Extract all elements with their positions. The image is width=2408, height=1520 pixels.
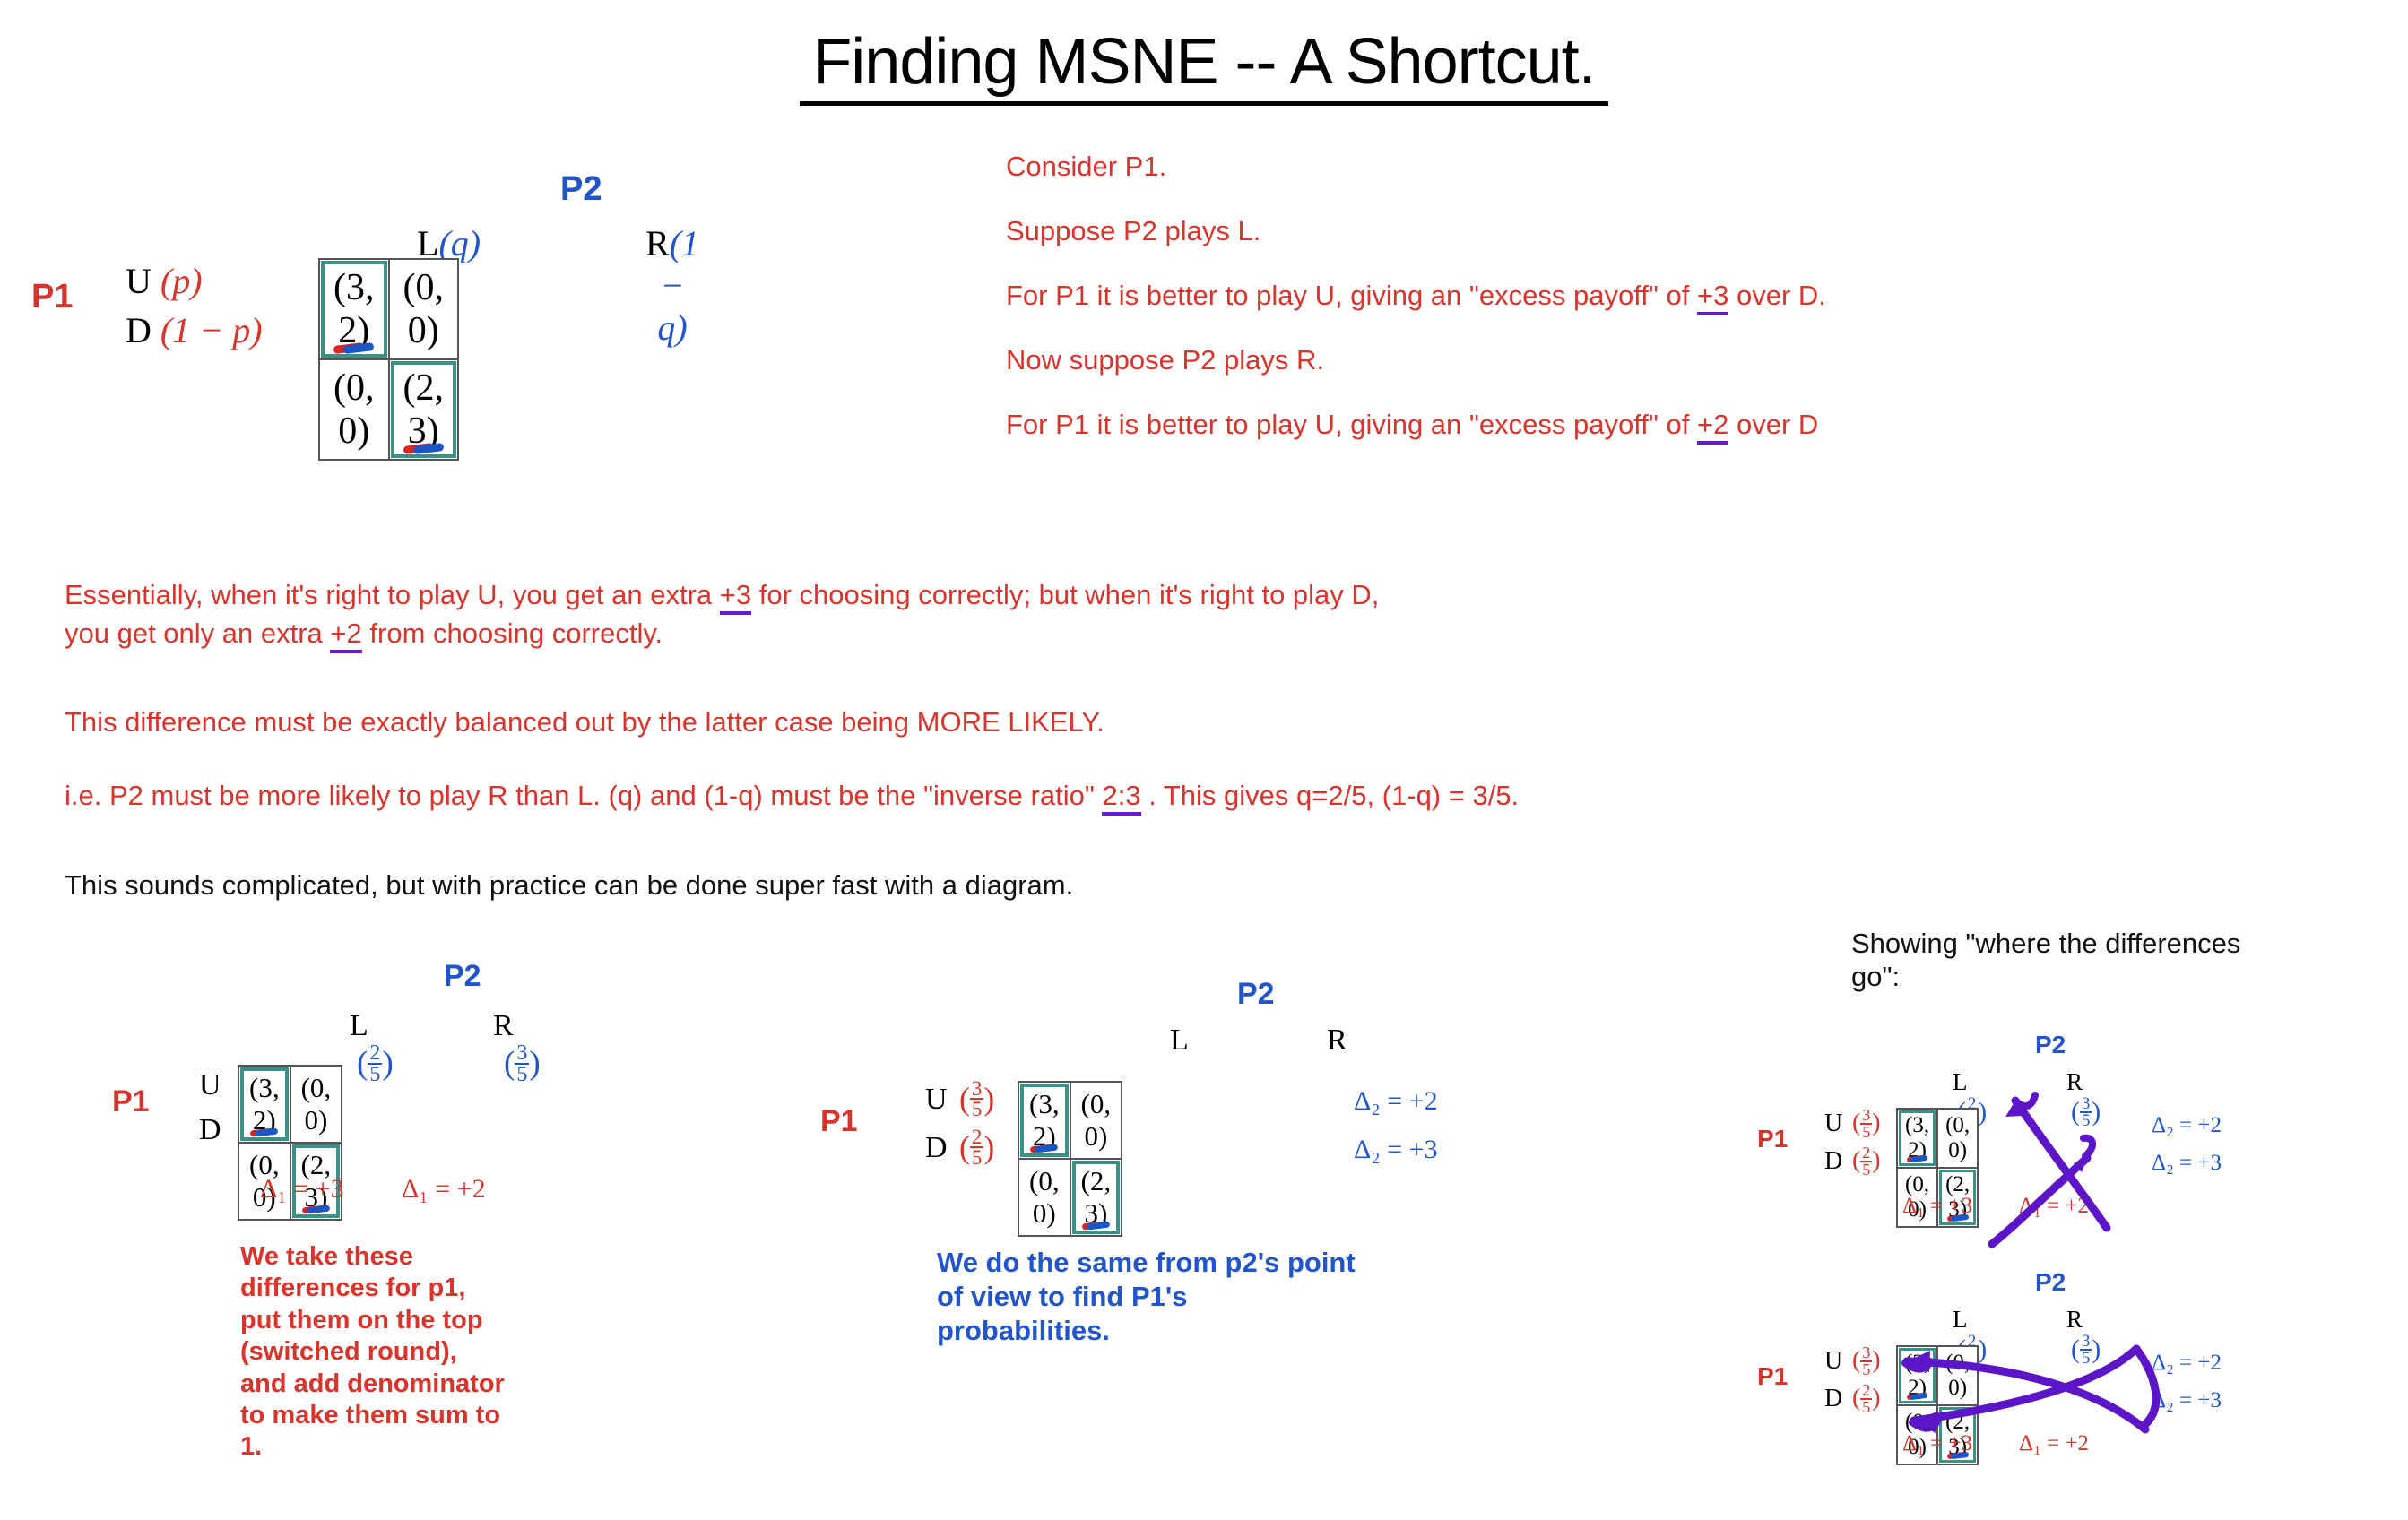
- explanation-line-3: For P1 it is better to play U, giving an…: [1006, 281, 1826, 309]
- paren-close: ): [983, 1086, 994, 1112]
- explanation-line-4: Now suppose P2 plays R.: [1006, 346, 1826, 374]
- row-label-d-bl: D: [199, 1113, 221, 1147]
- paren-open: (: [504, 1050, 515, 1077]
- body-p1-d: from choosing correctly.: [362, 617, 663, 649]
- fraction: 3 5: [515, 1043, 529, 1084]
- body-paragraph-2: This difference must be exactly balanced…: [65, 708, 1104, 736]
- cell-u-l-box: (3, 2): [1020, 1084, 1069, 1157]
- fraction: 2 5: [1860, 1145, 1872, 1177]
- explanation-block: Consider P1. Suppose P2 plays L. For P1 …: [1006, 152, 1826, 438]
- delta2-u-bm: Δ₂ = +2: [1354, 1086, 1438, 1117]
- cell-d-l-value: (0, 0): [1029, 1165, 1060, 1229]
- cell-d-r: (2, 3): [1070, 1159, 1122, 1236]
- body-p1-c: you get only an extra: [65, 617, 330, 649]
- row-label-d-prob: (1 − p): [160, 310, 263, 350]
- delta2-d-bm: Δ₂ = +3: [1354, 1135, 1438, 1165]
- fraction-numerator: 2: [368, 1043, 382, 1065]
- fraction-denominator: 5: [1862, 1400, 1870, 1415]
- table-row: (3, 2) (0, 0): [1018, 1082, 1122, 1159]
- bm-matrix-table: (3, 2) (0, 0) (0, 0) (2, 3): [1018, 1081, 1122, 1237]
- fraction-denominator: 5: [1862, 1162, 1870, 1178]
- fraction-numerator: 3: [1860, 1108, 1872, 1125]
- paren-close: ): [529, 1050, 540, 1077]
- paren-open: (: [959, 1086, 970, 1112]
- cell-u-r-value: (0, 0): [403, 267, 445, 351]
- col-header-l-bl: L ( 2 5 ): [350, 1008, 394, 1084]
- fraction: 2 5: [1860, 1383, 1872, 1414]
- p2-label-bl: P2: [444, 959, 481, 994]
- paren-close: ): [382, 1050, 393, 1077]
- p2-label-brb: P2: [2035, 1268, 2066, 1297]
- paren-close: ): [1872, 1113, 1880, 1133]
- col-header-l-bl-prob: ( 2 5 ): [357, 1043, 394, 1084]
- explanation-line-5a: For P1 it is better to play U, giving an…: [1006, 409, 1697, 440]
- paren-open: (: [1852, 1388, 1860, 1408]
- row-label-u-text: U: [126, 261, 152, 301]
- delta1-left-bl: Δ₁ = +3: [260, 1174, 344, 1205]
- cell-u-r: (0, 0): [389, 259, 459, 359]
- col-header-l-bm: L: [1170, 1023, 1189, 1058]
- explanation-line-1: Consider P1.: [1006, 152, 1826, 180]
- bl-caption: We take these differences for p1, put th…: [240, 1241, 509, 1464]
- cell-u-r-box: (0, 0): [292, 1071, 341, 1137]
- fraction-denominator: 5: [369, 1065, 380, 1084]
- p1-label-bm: P1: [820, 1104, 858, 1139]
- body-p1-plus2: +2: [330, 617, 361, 653]
- page-title-text: Finding MSNE -- A Shortcut.: [800, 26, 1607, 106]
- col-header-r-bl-text: R: [493, 1009, 514, 1042]
- row-label-d-brb: D: [1824, 1385, 1842, 1413]
- row-label-u-bl: U: [199, 1068, 221, 1102]
- body-p1-a: Essentially, when it's right to play U, …: [65, 579, 720, 610]
- fraction-denominator: 5: [972, 1148, 983, 1167]
- cell-u-l: (3, 2): [319, 259, 389, 359]
- explanation-line-3a: For P1 it is better to play U, giving an…: [1006, 280, 1697, 311]
- body-p1-plus3: +3: [720, 579, 751, 615]
- fraction-numerator: 2: [1860, 1145, 1872, 1162]
- arrow-flourish-right: [2083, 1138, 2092, 1156]
- cell-d-l-box: (0, 0): [1020, 1164, 1069, 1231]
- cell-u-l: (3, 2): [238, 1066, 290, 1143]
- arrow-flourish-left: [2017, 1095, 2035, 1106]
- fraction-denominator: 5: [972, 1100, 983, 1118]
- row-label-d-text: D: [126, 310, 152, 350]
- cell-d-r-box: (2, 3): [1072, 1161, 1121, 1234]
- cell-u-r: (0, 0): [290, 1066, 342, 1143]
- body-p3-line: i.e. P2 must be more likely to play R th…: [65, 782, 1519, 809]
- row-label-u: U (p): [126, 260, 212, 302]
- explanation-line-5: For P1 it is better to play U, giving an…: [1006, 410, 1826, 438]
- p1-label-bl: P1: [112, 1084, 150, 1119]
- paren-close: ): [983, 1135, 994, 1161]
- col-header-r-bm: R: [1327, 1023, 1347, 1058]
- table-row: (3, 2) (0, 0): [319, 259, 458, 359]
- cell-d-r-value: (2, 3): [403, 367, 445, 452]
- fraction: 2 5: [970, 1127, 984, 1167]
- col-header-r-bl: R ( 3 5 ): [493, 1008, 541, 1084]
- excess-payoff-plus2: +2: [1697, 409, 1728, 445]
- arrow-to-lower-left-path: [1914, 1349, 2136, 1421]
- row-label-u-brb: U: [1824, 1347, 1842, 1376]
- row-label-u-bra: U: [1824, 1110, 1842, 1138]
- cell-u-l-value: (3, 2): [249, 1072, 280, 1136]
- fraction: 3 5: [970, 1079, 984, 1118]
- top-matrix-table: (3, 2) (0, 0) (0, 0) (2, 3): [318, 258, 459, 461]
- page-title: Finding MSNE -- A Shortcut.: [0, 25, 2408, 99]
- fraction-numerator: 3: [515, 1043, 529, 1065]
- row-label-d: D (1 − p): [126, 309, 272, 351]
- fraction-numerator: 3: [970, 1079, 984, 1100]
- cell-u-r: (0, 0): [1070, 1082, 1122, 1159]
- paren-open: (: [959, 1135, 970, 1161]
- body-paragraph-4: This sounds complicated, but with practi…: [65, 869, 1073, 902]
- paren-open: (: [357, 1050, 368, 1077]
- fraction-denominator: 5: [1862, 1125, 1870, 1140]
- p2-label-bra: P2: [2035, 1031, 2066, 1059]
- cell-d-r-value: (2, 3): [1081, 1165, 1112, 1229]
- fraction-numerator: 2: [970, 1127, 984, 1148]
- arrow-up-right-path: [1992, 1158, 2087, 1244]
- table-row: (0, 0) (2, 3): [1018, 1159, 1122, 1236]
- col-header-l-bl-text: L: [350, 1009, 368, 1042]
- body-p1-line1: Essentially, when it's right to play U, …: [65, 581, 1379, 609]
- cell-u-r-box: (0, 0): [1072, 1087, 1121, 1153]
- fraction: 2 5: [368, 1043, 382, 1084]
- cell-u-l-value: (3, 2): [1029, 1088, 1060, 1152]
- cell-d-l: (0, 0): [1018, 1159, 1070, 1236]
- bm-caption: We do the same from p2's point of view t…: [937, 1246, 1358, 1347]
- cell-d-l: (0, 0): [319, 359, 389, 460]
- p1-label-top: P1: [31, 278, 73, 316]
- cell-u-r-value: (0, 0): [1081, 1088, 1112, 1152]
- fraction-denominator: 5: [516, 1065, 527, 1084]
- fraction-numerator: 3: [1860, 1345, 1872, 1362]
- p1-label-bra: P1: [1757, 1125, 1788, 1153]
- p2-label-top-dup: P2: [560, 170, 602, 209]
- cell-u-l: (3, 2): [1018, 1082, 1070, 1159]
- cell-d-l-value: (0, 0): [333, 367, 375, 452]
- cell-u-l-box: (3, 2): [240, 1067, 289, 1141]
- explanation-line-2: Suppose P2 plays L.: [1006, 217, 1826, 245]
- row-label-d-bra: D: [1824, 1147, 1842, 1176]
- excess-payoff-plus3: +3: [1697, 280, 1728, 315]
- body-p3-b: . This gives q=2/5, (1-q) = 3/5.: [1141, 780, 1520, 811]
- body-p1-b: for choosing correctly; but when it's ri…: [751, 579, 1379, 610]
- p1-prob-u-bm: ( 3 5 ): [959, 1079, 994, 1118]
- inverse-ratio-value: 2:3: [1102, 780, 1140, 816]
- cell-d-r: (2, 3): [389, 359, 459, 460]
- body-paragraph-1: Essentially, when it's right to play U, …: [65, 581, 1379, 647]
- explanation-line-3b: over D.: [1728, 280, 1826, 311]
- explanation-line-5b: over D: [1728, 409, 1818, 440]
- row-label-u-bm: U: [925, 1083, 948, 1117]
- fraction: 3 5: [1860, 1345, 1872, 1377]
- p2-label-bm: P2: [1237, 977, 1275, 1012]
- cell-u-l-value: (3, 2): [333, 267, 375, 351]
- paren-open: (: [1852, 1113, 1860, 1133]
- body-p1-line2: you get only an extra +2 from choosing c…: [65, 619, 1379, 647]
- cell-d-r-box: (2, 3): [391, 361, 457, 458]
- arrow-right-hook: [2136, 1349, 2156, 1426]
- paren-open: (: [1852, 1151, 1860, 1170]
- fraction-denominator: 5: [1862, 1362, 1870, 1377]
- p1-prob-d-brb: ( 2 5 ): [1852, 1383, 1881, 1414]
- bottom-right-heading: Showing "where the differences go":: [1851, 928, 2246, 993]
- p1-prob-d-bra: ( 2 5 ): [1852, 1145, 1881, 1177]
- cell-d-l-box: (0, 0): [321, 365, 387, 454]
- cell-u-r-box: (0, 0): [391, 264, 457, 354]
- col-header-r-text: R: [645, 223, 670, 263]
- col-header-r: R(1 − q): [645, 222, 699, 349]
- row-label-u-prob: (p): [160, 261, 203, 301]
- body-p3-a: i.e. P2 must be more likely to play R th…: [65, 780, 1102, 811]
- col-header-r-bl-prob: ( 3 5 ): [504, 1043, 541, 1084]
- fraction-numerator: 2: [1860, 1383, 1872, 1400]
- delta1-right-bl: Δ₁ = +2: [402, 1174, 486, 1205]
- row-label-d-bm: D: [925, 1131, 948, 1165]
- p1-prob-d-bm: ( 2 5 ): [959, 1127, 994, 1167]
- fraction: 3 5: [1860, 1108, 1872, 1139]
- purple-cross-arrows-b: [1878, 1322, 2228, 1474]
- paren-close: ): [1872, 1151, 1880, 1170]
- table-row: (3, 2) (0, 0): [238, 1066, 342, 1143]
- p1-prob-u-bra: ( 3 5 ): [1852, 1108, 1881, 1139]
- p1-prob-u-brb: ( 3 5 ): [1852, 1345, 1881, 1377]
- body-paragraph-3: i.e. P2 must be more likely to play R th…: [65, 782, 1519, 809]
- paren-open: (: [1852, 1351, 1860, 1370]
- purple-cross-arrows-a: [1883, 1075, 2205, 1246]
- table-row: (0, 0) (2, 3): [319, 359, 458, 460]
- p1-label-brb: P1: [1757, 1362, 1788, 1391]
- cell-u-l-box: (3, 2): [321, 261, 387, 358]
- cell-u-r-value: (0, 0): [301, 1072, 332, 1136]
